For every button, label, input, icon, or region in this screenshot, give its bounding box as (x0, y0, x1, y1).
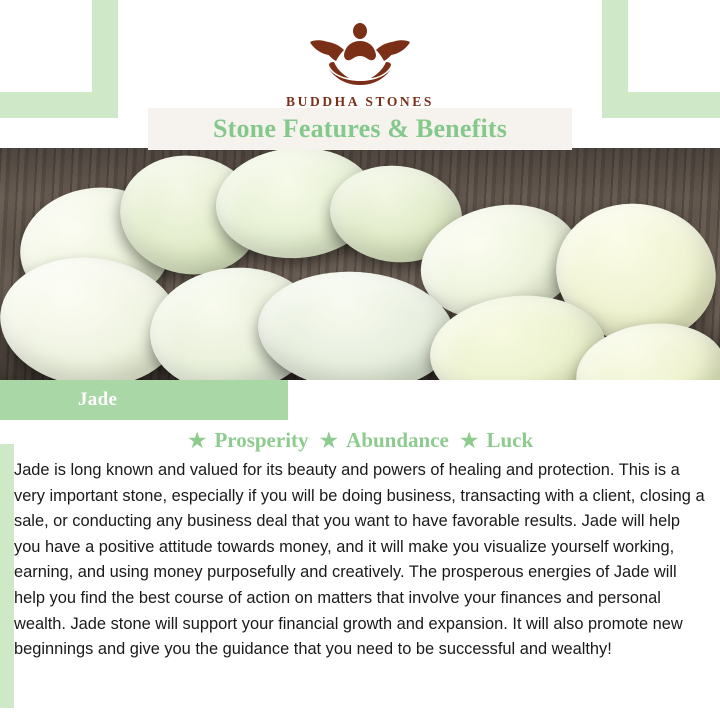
decor-bottom-strip (0, 708, 720, 720)
keyword-label: Abundance (346, 428, 449, 453)
stone-name-bar: Jade (0, 380, 288, 420)
description-paragraph: Jade is long known and valued for its be… (14, 458, 708, 663)
star-icon: ★ (459, 429, 480, 452)
keyword-row: ★ Prosperity ★ Abundance ★ Luck (0, 428, 720, 453)
keyword-item-luck: ★ Luck (459, 428, 533, 453)
lotus-meditation-icon (294, 18, 426, 92)
star-icon: ★ (187, 429, 208, 452)
brand-logo-block: BUDDHA STONES (0, 18, 720, 110)
keyword-label: Prosperity (214, 428, 308, 453)
caption-bar-filler (288, 380, 720, 420)
keyword-item-prosperity: ★ Prosperity (187, 428, 309, 453)
section-title-banner: Stone Features & Benefits (148, 108, 572, 150)
decor-left-edge-bar (0, 444, 14, 720)
keyword-item-abundance: ★ Abundance (319, 428, 449, 453)
keyword-label: Luck (486, 428, 533, 453)
page-title: Stone Features & Benefits (213, 114, 507, 144)
star-icon: ★ (319, 429, 340, 452)
stone-info-card: BUDDHA STONES Stone Features & Benefits … (0, 0, 720, 720)
hero-photo (0, 148, 720, 380)
stone-name: Jade (78, 389, 117, 411)
